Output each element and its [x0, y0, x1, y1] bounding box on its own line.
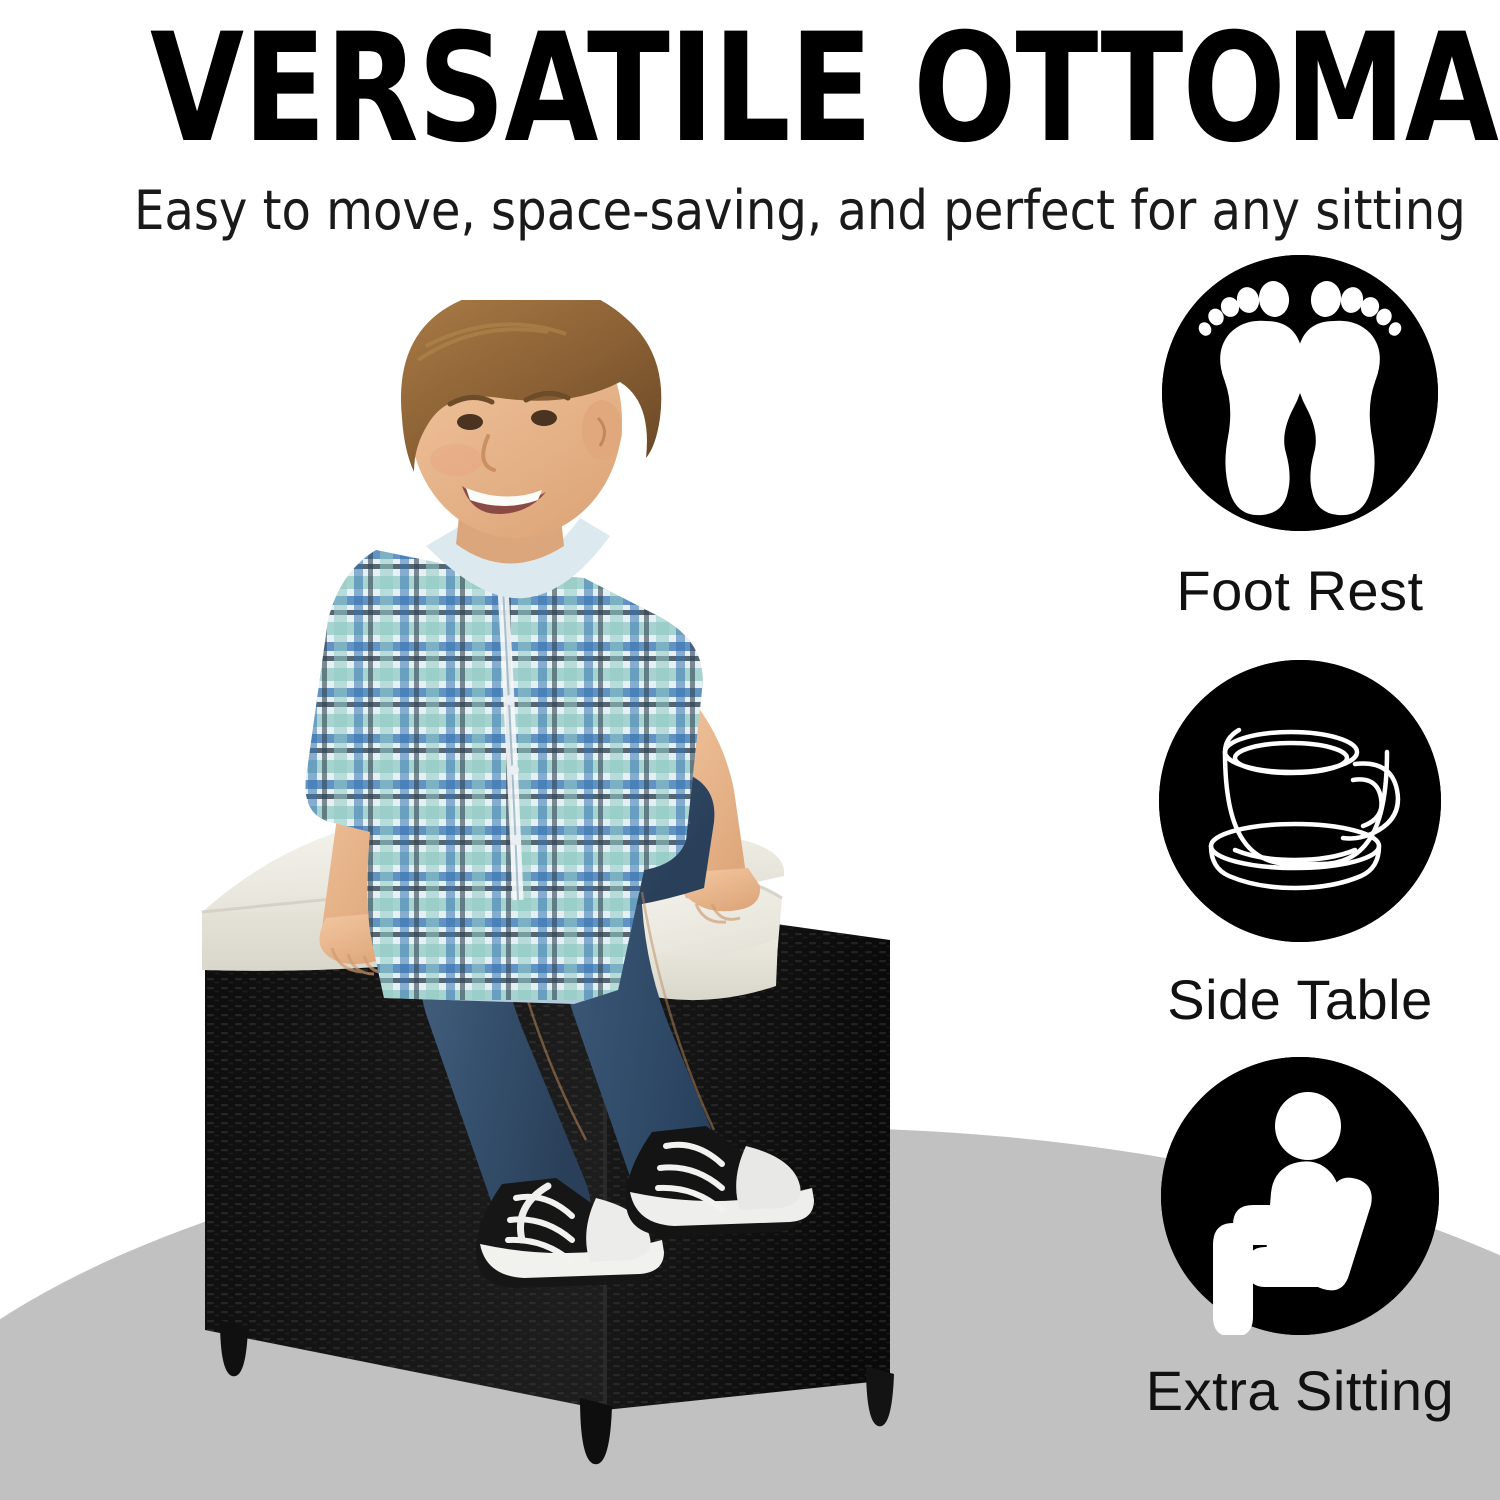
- coffee-cup-icon: [1159, 660, 1441, 942]
- feature-label-foot-rest: Foot Rest: [1100, 561, 1500, 621]
- feature-item-foot-rest[interactable]: Foot Rest: [1100, 255, 1500, 621]
- infographic-canvas: VERSATILE OTTOMAN Easy to move, space-sa…: [0, 0, 1500, 1500]
- feature-label-extra-sitting: Extra Sitting: [1100, 1361, 1500, 1421]
- page-title: VERSATILE OTTOMAN: [150, 14, 1176, 164]
- feature-item-extra-sitting[interactable]: Extra Sitting: [1100, 1057, 1500, 1421]
- page-subtitle: Easy to move, space-saving, and perfect …: [134, 182, 1372, 240]
- seated-person-icon: [1161, 1057, 1439, 1335]
- feature-item-side-table[interactable]: Side Table: [1100, 660, 1500, 1030]
- feature-list: Foot Rest: [1100, 255, 1500, 1435]
- feature-label-side-table: Side Table: [1100, 970, 1500, 1030]
- product-photo: [150, 300, 940, 1480]
- footprints-icon: [1162, 255, 1438, 531]
